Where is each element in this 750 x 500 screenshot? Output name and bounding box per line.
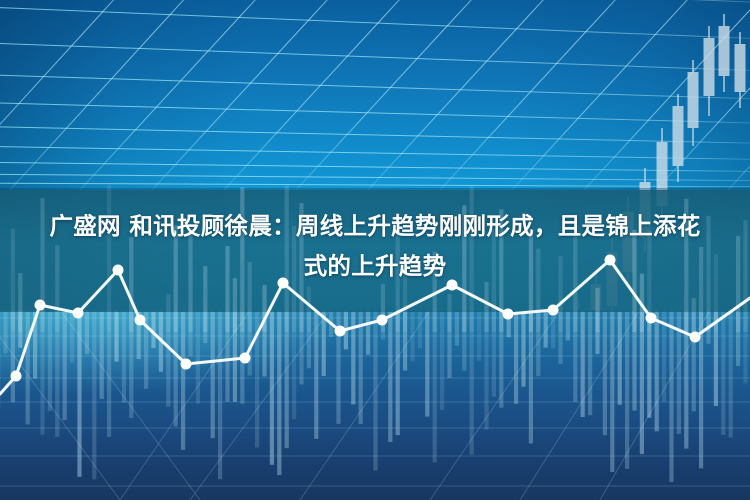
page-title: 广盛网 和讯投顾徐晨：周线上升趋势刚刚形成，且是锦上添花 式的上升趋势 (0, 206, 750, 286)
trend-marker (135, 315, 146, 326)
trend-marker (181, 359, 192, 370)
trend-marker (335, 326, 346, 337)
trend-marker (548, 305, 559, 316)
trend-marker (690, 332, 701, 343)
stock-banner-image: 广盛网 和讯投顾徐晨：周线上升趋势刚刚形成，且是锦上添花 式的上升趋势 (0, 0, 750, 500)
trend-marker (503, 309, 514, 320)
trend-marker (646, 313, 657, 324)
trend-marker (11, 371, 22, 382)
trend-marker (35, 300, 46, 311)
trend-marker (377, 315, 388, 326)
trend-marker (73, 308, 84, 319)
trend-marker (240, 353, 251, 364)
